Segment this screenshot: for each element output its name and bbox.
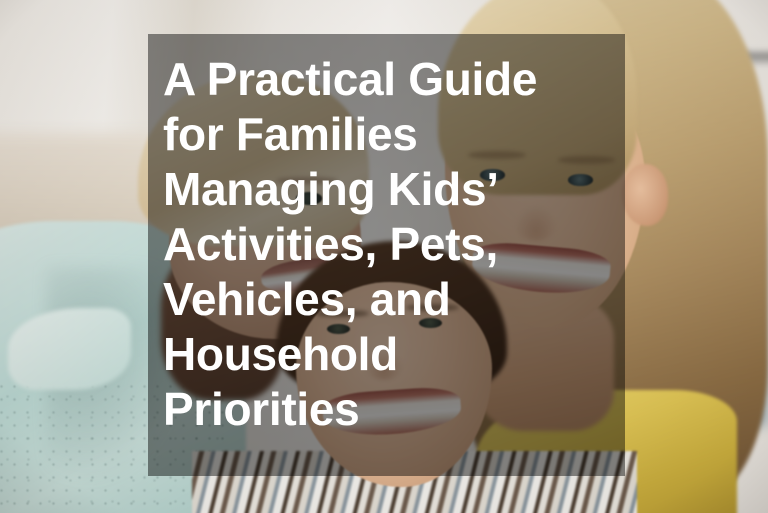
hero-title-line: Priorities [163,382,609,437]
hero-title-line: for Families [163,107,609,162]
young-woman-ear [622,164,668,226]
hero-title-line: A Practical Guide [163,52,609,107]
hero-title-line: Managing Kids’ [163,162,609,217]
hero-title-line: Activities, Pets, [163,217,609,272]
hero-title-line: Household [163,327,609,382]
hero-title-line: Vehicles, and [163,272,609,327]
title-overlay-panel: A Practical Guidefor FamiliesManaging Ki… [148,34,625,476]
hero-screenshot: A Practical Guidefor FamiliesManaging Ki… [0,0,768,513]
hero-title: A Practical Guidefor FamiliesManaging Ki… [163,52,609,437]
